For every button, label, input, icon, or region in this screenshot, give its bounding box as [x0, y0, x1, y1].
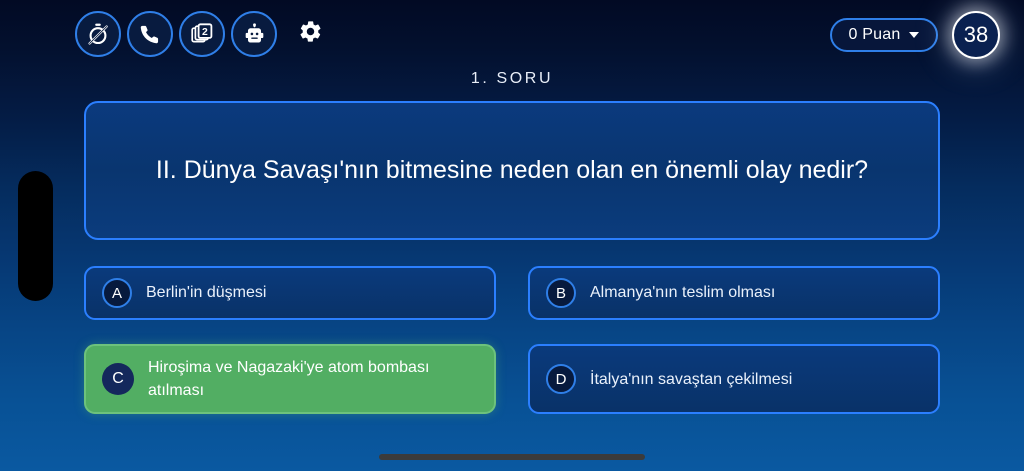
- option-badge-d: D: [546, 364, 576, 394]
- answer-option-d[interactable]: D İtalya'nın savaştan çekilmesi: [528, 344, 940, 414]
- lifeline-eliminate-two-button[interactable]: 2: [179, 11, 225, 57]
- answer-options: A Berlin'in düşmesi B Almanya'nın teslim…: [84, 266, 940, 414]
- option-badge-c: C: [102, 363, 134, 395]
- cards-two-icon: 2: [190, 22, 214, 46]
- settings-button[interactable]: [287, 11, 333, 57]
- phone-icon: [139, 23, 161, 45]
- option-text-a: Berlin'in düşmesi: [146, 281, 266, 304]
- question-card: II. Dünya Savaşı'nın bitmesine neden ola…: [84, 101, 940, 240]
- svg-text:2: 2: [202, 27, 208, 38]
- lifeline-ai-button[interactable]: [231, 11, 277, 57]
- points-dropdown[interactable]: 0 Puan: [830, 18, 938, 52]
- answer-option-b[interactable]: B Almanya'nın teslim olması: [528, 266, 940, 320]
- stopwatch-slash-icon: [86, 22, 110, 46]
- lifeline-buttons: 2: [75, 11, 333, 57]
- option-badge-b: B: [546, 278, 576, 308]
- lifeline-timer-off-button[interactable]: [75, 11, 121, 57]
- home-indicator[interactable]: [379, 454, 645, 460]
- drawer-handle[interactable]: [18, 171, 53, 301]
- points-value: 0 Puan: [849, 26, 901, 44]
- lifeline-phone-button[interactable]: [127, 11, 173, 57]
- option-text-b: Almanya'nın teslim olması: [590, 281, 775, 304]
- option-text-d: İtalya'nın savaştan çekilmesi: [590, 368, 792, 391]
- countdown-timer: 38: [952, 11, 1000, 59]
- answer-option-a[interactable]: A Berlin'in düşmesi: [84, 266, 496, 320]
- score-timer-cluster: 0 Puan 38: [830, 11, 1000, 59]
- timer-value: 38: [964, 22, 988, 48]
- top-bar: 2: [0, 0, 1024, 68]
- question-text: II. Dünya Savaşı'nın bitmesine neden ola…: [156, 154, 868, 188]
- answer-option-c[interactable]: C Hiroşima ve Nagazaki'ye atom bombası a…: [84, 344, 496, 414]
- option-badge-a: A: [102, 278, 132, 308]
- robot-icon: [243, 23, 266, 46]
- gear-icon: [298, 19, 323, 49]
- quiz-screen: 2: [0, 0, 1024, 471]
- chevron-down-icon: [909, 32, 919, 38]
- option-text-c: Hiroşima ve Nagazaki'ye atom bombası atı…: [148, 356, 478, 402]
- question-number-label: 1. SORU: [0, 70, 1024, 88]
